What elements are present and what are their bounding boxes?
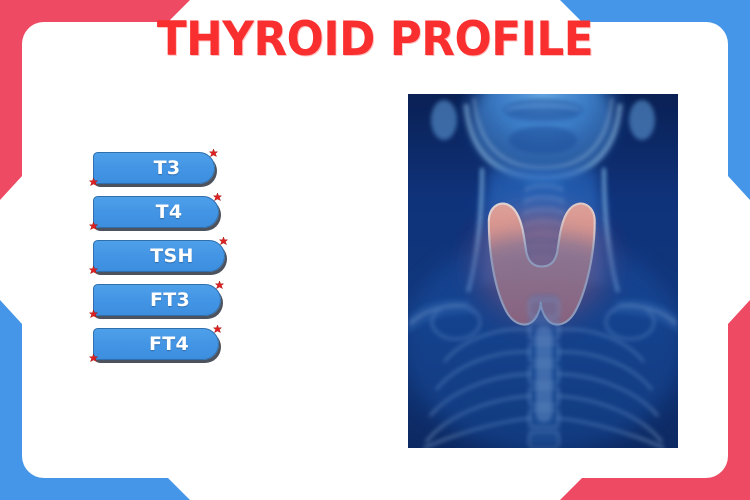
test-button-ft3[interactable]: FT3 xyxy=(93,284,221,316)
test-label: TSH xyxy=(93,240,225,272)
star-marker-icon xyxy=(89,178,98,187)
star-marker-icon xyxy=(213,193,222,202)
page-title: THYROID PROFILE xyxy=(26,16,724,63)
test-button-t4[interactable]: T4 xyxy=(93,196,219,228)
star-marker-icon xyxy=(89,222,98,231)
test-label: T3 xyxy=(93,152,215,184)
star-marker-icon xyxy=(89,354,98,363)
thyroid-anatomy-xray-image xyxy=(408,94,678,448)
test-label: T4 xyxy=(93,196,219,228)
star-marker-icon xyxy=(213,325,222,334)
test-button-tsh[interactable]: TSH xyxy=(93,240,225,272)
test-button-ft4[interactable]: FT4 xyxy=(93,328,219,360)
thyroid-test-list: T3 T4 xyxy=(93,152,225,360)
star-marker-icon xyxy=(215,281,224,290)
star-marker-icon xyxy=(89,310,98,319)
test-label: FT3 xyxy=(93,284,221,316)
test-button-t3[interactable]: T3 xyxy=(93,152,215,184)
star-marker-icon xyxy=(219,237,228,246)
star-marker-icon xyxy=(209,149,218,158)
star-marker-icon xyxy=(89,266,98,275)
poster-canvas: THYROID PROFILE T3 T4 xyxy=(0,0,750,500)
test-label: FT4 xyxy=(93,328,219,360)
